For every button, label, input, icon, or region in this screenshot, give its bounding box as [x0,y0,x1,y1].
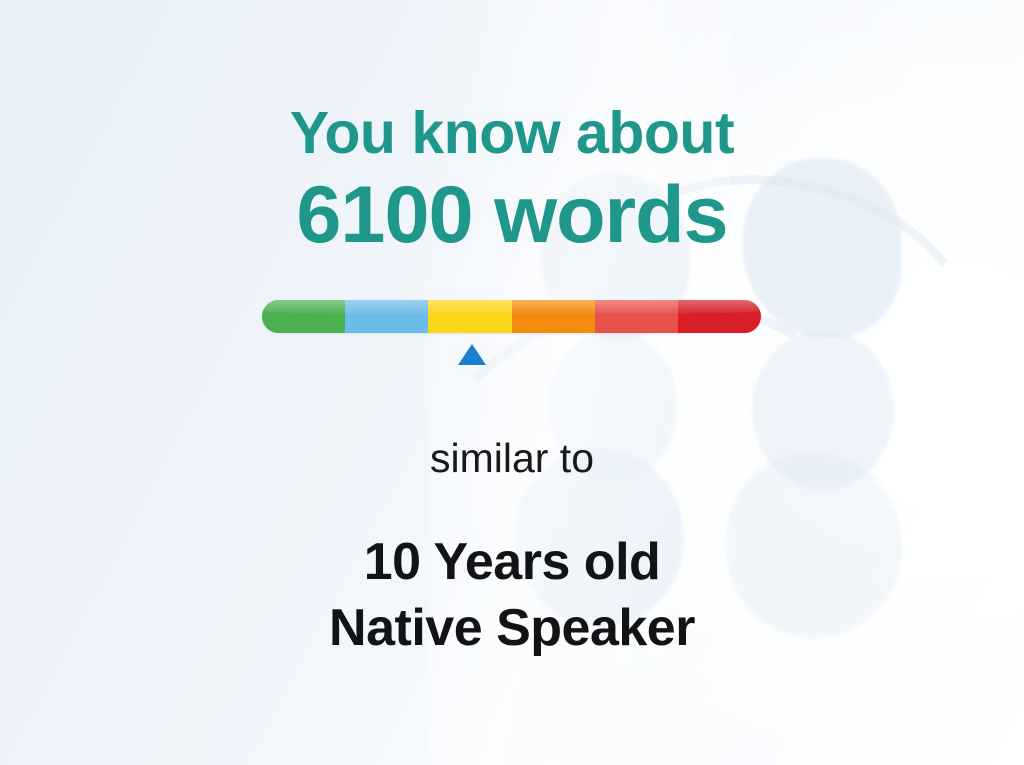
segment-orange [512,300,595,333]
segment-light-red [595,300,678,333]
connector-text: similar to [0,435,1024,482]
level-line-1: 10 Years old [0,529,1024,595]
proficiency-scale [262,300,761,333]
level-description: 10 Years old Native Speaker [0,529,1024,661]
score-marker-icon [458,344,486,365]
headline-line-1: You know about [0,104,1024,163]
scale-bar [262,300,761,333]
segment-green [262,300,345,333]
segment-light-blue [345,300,428,333]
headline-word-count: 6100 words [0,175,1024,256]
result-headline: You know about 6100 words [0,104,1024,256]
level-line-2: Native Speaker [0,595,1024,661]
segment-dark-red [678,300,761,333]
card-content: You know about 6100 words similar to 10 … [0,0,1024,765]
vocabulary-result-card: You know about 6100 words similar to 10 … [0,0,1024,765]
segment-yellow [428,300,511,333]
